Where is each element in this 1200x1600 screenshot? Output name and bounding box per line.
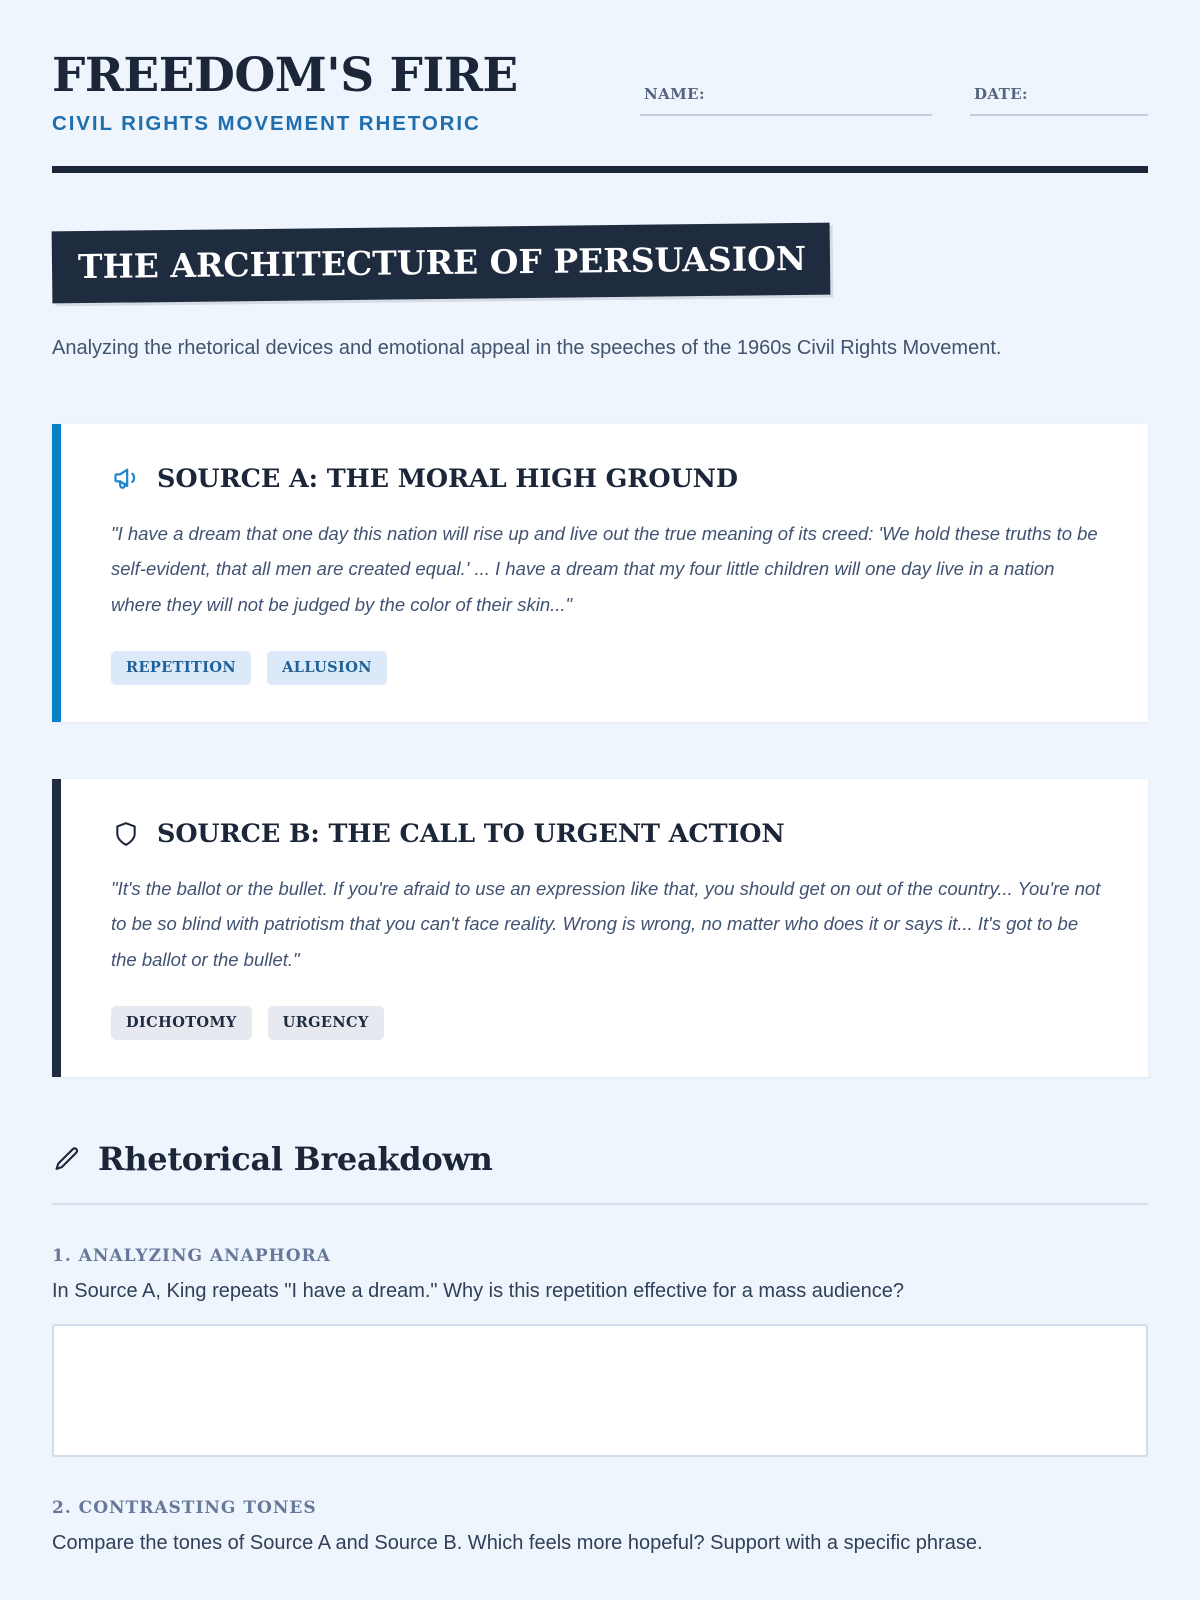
- question-2-label: 2. CONTRASTING TONES: [52, 1498, 1148, 1518]
- page-subtitle: CIVIL RIGHTS MOVEMENT RHETORIC: [52, 112, 518, 136]
- page-title: FREEDOM'S FIRE: [52, 52, 518, 99]
- source-card-a: SOURCE A: THE MORAL HIGH GROUND "I have …: [52, 424, 1148, 722]
- date-label: DATE:: [970, 85, 1148, 103]
- breakdown-divider: [52, 1203, 1148, 1205]
- source-b-accent-bar: [52, 779, 61, 1077]
- tag-repetition[interactable]: REPETITION: [111, 651, 251, 685]
- source-a-title: SOURCE A: THE MORAL HIGH GROUND: [157, 464, 738, 494]
- header-divider: [52, 166, 1148, 173]
- source-a-quote: "I have a dream that one day this nation…: [111, 516, 1104, 623]
- source-a-accent-bar: [52, 424, 61, 722]
- source-b-tags: DICHOTOMY URGENCY: [111, 1006, 1104, 1040]
- source-b-header: SOURCE B: THE CALL TO URGENT ACTION: [111, 819, 1104, 849]
- tag-dichotomy[interactable]: DICHOTOMY: [111, 1006, 252, 1040]
- question-1-text: In Source A, King repeats "I have a drea…: [52, 1276, 1148, 1307]
- breakdown-header: Rhetorical Breakdown: [52, 1140, 1148, 1178]
- pencil-icon: [52, 1144, 82, 1174]
- source-b-body: SOURCE B: THE CALL TO URGENT ACTION "It'…: [61, 779, 1148, 1077]
- megaphone-icon: [111, 464, 141, 494]
- name-label: NAME:: [640, 85, 932, 103]
- source-b-quote: "It's the ballot or the bullet. If you'r…: [111, 871, 1104, 978]
- name-field-group: NAME:: [640, 85, 932, 116]
- date-input[interactable]: [970, 114, 1148, 116]
- question-1-label: 1. ANALYZING ANAPHORA: [52, 1246, 1148, 1266]
- date-field-group: DATE:: [970, 85, 1148, 116]
- source-card-b: SOURCE B: THE CALL TO URGENT ACTION "It'…: [52, 779, 1148, 1077]
- source-a-header: SOURCE A: THE MORAL HIGH GROUND: [111, 464, 1104, 494]
- shield-icon: [111, 819, 141, 849]
- question-1: 1. ANALYZING ANAPHORA In Source A, King …: [52, 1246, 1148, 1457]
- question-2-text: Compare the tones of Source A and Source…: [52, 1528, 1148, 1559]
- source-b-title: SOURCE B: THE CALL TO URGENT ACTION: [157, 819, 785, 849]
- masthead: FREEDOM'S FIRE CIVIL RIGHTS MOVEMENT RHE…: [52, 52, 1148, 136]
- source-a-body: SOURCE A: THE MORAL HIGH GROUND "I have …: [61, 424, 1148, 722]
- section-banner: THE ARCHITECTURE OF PERSUASION: [52, 223, 831, 304]
- source-a-tags: REPETITION ALLUSION: [111, 651, 1104, 685]
- breakdown-title: Rhetorical Breakdown: [98, 1140, 493, 1178]
- question-2: 2. CONTRASTING TONES Compare the tones o…: [52, 1498, 1148, 1559]
- tag-urgency[interactable]: URGENCY: [268, 1006, 384, 1040]
- brand: FREEDOM'S FIRE CIVIL RIGHTS MOVEMENT RHE…: [52, 52, 518, 136]
- worksheet-page: FREEDOM'S FIRE CIVIL RIGHTS MOVEMENT RHE…: [0, 0, 1200, 1600]
- banner-wrap: THE ARCHITECTURE OF PERSUASION: [52, 227, 1148, 299]
- tag-allusion[interactable]: ALLUSION: [267, 651, 387, 685]
- name-input[interactable]: [640, 114, 932, 116]
- student-fields: NAME: DATE:: [640, 52, 1148, 116]
- intro-paragraph: Analyzing the rhetorical devices and emo…: [52, 331, 1042, 367]
- question-1-answer-box[interactable]: [52, 1324, 1148, 1457]
